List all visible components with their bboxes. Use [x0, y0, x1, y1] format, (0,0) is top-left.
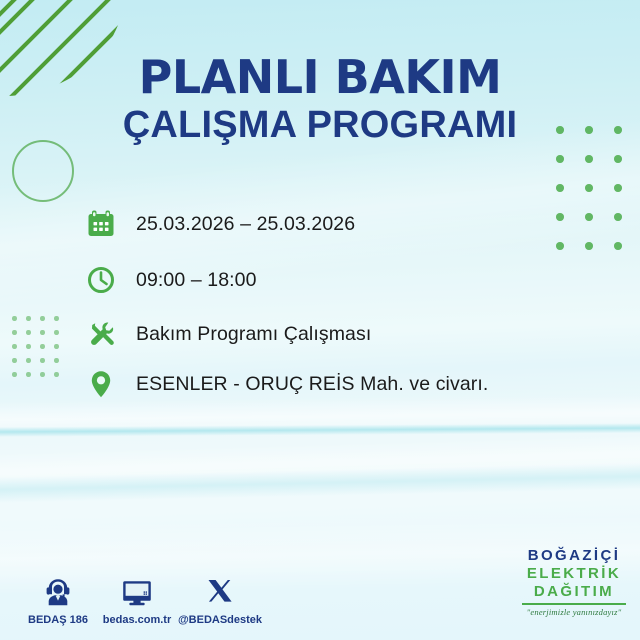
logo-tagline: "enerjimizle yanınızdayız" — [522, 608, 626, 617]
tools-icon — [84, 317, 118, 351]
footer-item-call-center[interactable]: BEDAŞ 186 — [14, 569, 102, 626]
clock-icon — [84, 263, 118, 297]
logo-line-3: DAĞITIM — [522, 584, 626, 599]
dot-grid-left-decoration — [12, 316, 68, 386]
logo-divider — [522, 603, 626, 605]
footer-label-call-center: BEDAŞ 186 — [14, 614, 102, 626]
background-sheen-band — [0, 462, 640, 504]
calendar-icon — [84, 207, 118, 241]
planned-maintenance-poster: PLANLI BAKIM ÇALIŞMA PROGRAMI — [0, 0, 640, 640]
detail-text-date: 25.03.2026 – 25.03.2026 — [136, 213, 355, 236]
detail-text-location: ESENLER - ORUÇ REİS Mah. ve civarı. — [136, 373, 488, 396]
title-line-1: PLANLI BAKIM — [0, 54, 640, 101]
page-title: PLANLI BAKIM ÇALIŞMA PROGRAMI — [0, 54, 640, 147]
circle-outline-decoration — [12, 140, 74, 202]
footer-item-social[interactable]: @BEDASdestek — [168, 569, 272, 626]
location-pin-icon — [84, 367, 118, 401]
headset-agent-icon — [14, 569, 102, 609]
background-sheen-band — [0, 432, 640, 493]
detail-text-time: 09:00 – 18:00 — [136, 269, 257, 292]
detail-row-work-type: Bakım Programı Çalışması — [84, 310, 604, 358]
x-twitter-icon — [168, 569, 272, 609]
detail-text-work-type: Bakım Programı Çalışması — [136, 323, 371, 346]
background-sheen-band — [0, 423, 640, 438]
detail-row-date: 25.03.2026 – 25.03.2026 — [84, 200, 604, 248]
footer-label-social: @BEDASdestek — [168, 614, 272, 626]
bedas-logo: BOĞAZİÇİ ELEKTRİK DAĞITIM "enerjimizle y… — [522, 548, 626, 617]
detail-list: 25.03.2026 – 25.03.2026 09:00 – 18:00 — [84, 200, 604, 408]
detail-row-time: 09:00 – 18:00 — [84, 256, 604, 304]
logo-line-2: ELEKTRİK — [522, 566, 626, 581]
title-line-2: ÇALIŞMA PROGRAMI — [0, 105, 640, 147]
logo-line-1: BOĞAZİÇİ — [522, 548, 626, 563]
detail-row-location: ESENLER - ORUÇ REİS Mah. ve civarı. — [84, 360, 604, 408]
